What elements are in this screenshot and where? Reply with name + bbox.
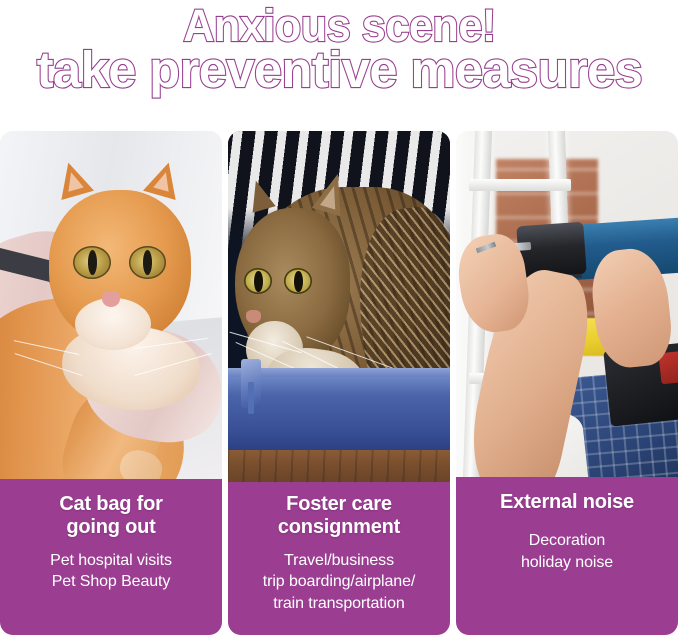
panel-foster-care: Foster care consignment Travel/business … (228, 131, 450, 635)
page-title-line-2: take preventive measures (3, 45, 675, 95)
caption-title-line-2: consignment (278, 516, 400, 538)
cat-nose-shape (246, 310, 262, 323)
panel-cat-bag: Cat bag for going out Pet hospital visit… (0, 131, 222, 635)
page-title: Anxious scene! take preventive measures (0, 0, 679, 95)
caption-body-line-1: Travel/business (284, 552, 394, 569)
panel-external-noise: External noise Decoration holiday noise (456, 131, 678, 635)
caption-body-cat-bag: Pet hospital visits Pet Shop Beauty (8, 550, 214, 594)
ladder-rung-shape (469, 179, 571, 190)
caption-body-line-2: trip boarding/airplane/ (263, 573, 415, 590)
caption-body-line-3: train transportation (273, 595, 404, 612)
cat-eye-left-shape (73, 246, 111, 279)
caption-title-line-1: Cat bag for (59, 493, 162, 515)
cat-eye-right-shape (129, 246, 167, 279)
caption-foster-care: Foster care consignment Travel/business … (228, 482, 450, 635)
pet-carrier-shape (228, 377, 450, 451)
caption-body-line-2: holiday noise (521, 554, 613, 571)
caption-body-line-1: Decoration (529, 532, 605, 549)
caption-title-external-noise: External noise (464, 491, 670, 514)
caption-title-foster-care: Foster care consignment (236, 493, 442, 539)
caption-body-line-2: Pet Shop Beauty (52, 573, 171, 590)
caption-body-foster-care: Travel/business trip boarding/airplane/ … (236, 550, 442, 615)
cat-nose-shape (102, 291, 120, 307)
caption-body-external-noise: Decoration holiday noise (464, 530, 670, 574)
caption-title-line-2: going out (66, 516, 155, 538)
photo-vet-holding-ginger-cat (0, 131, 222, 479)
carrier-latch-shape (241, 359, 261, 408)
caption-title-line-1: Foster care (286, 493, 392, 515)
photo-cat-in-blue-carrier (228, 131, 450, 482)
caption-title-line-1: External noise (500, 491, 634, 513)
photo-person-drilling-wall (456, 131, 678, 477)
panel-grid: Cat bag for going out Pet hospital visit… (0, 131, 679, 635)
caption-title-cat-bag: Cat bag for going out (8, 493, 214, 539)
caption-cat-bag: Cat bag for going out Pet hospital visit… (0, 479, 222, 635)
caption-external-noise: External noise Decoration holiday noise (456, 477, 678, 635)
caption-body-line-1: Pet hospital visits (50, 552, 172, 569)
